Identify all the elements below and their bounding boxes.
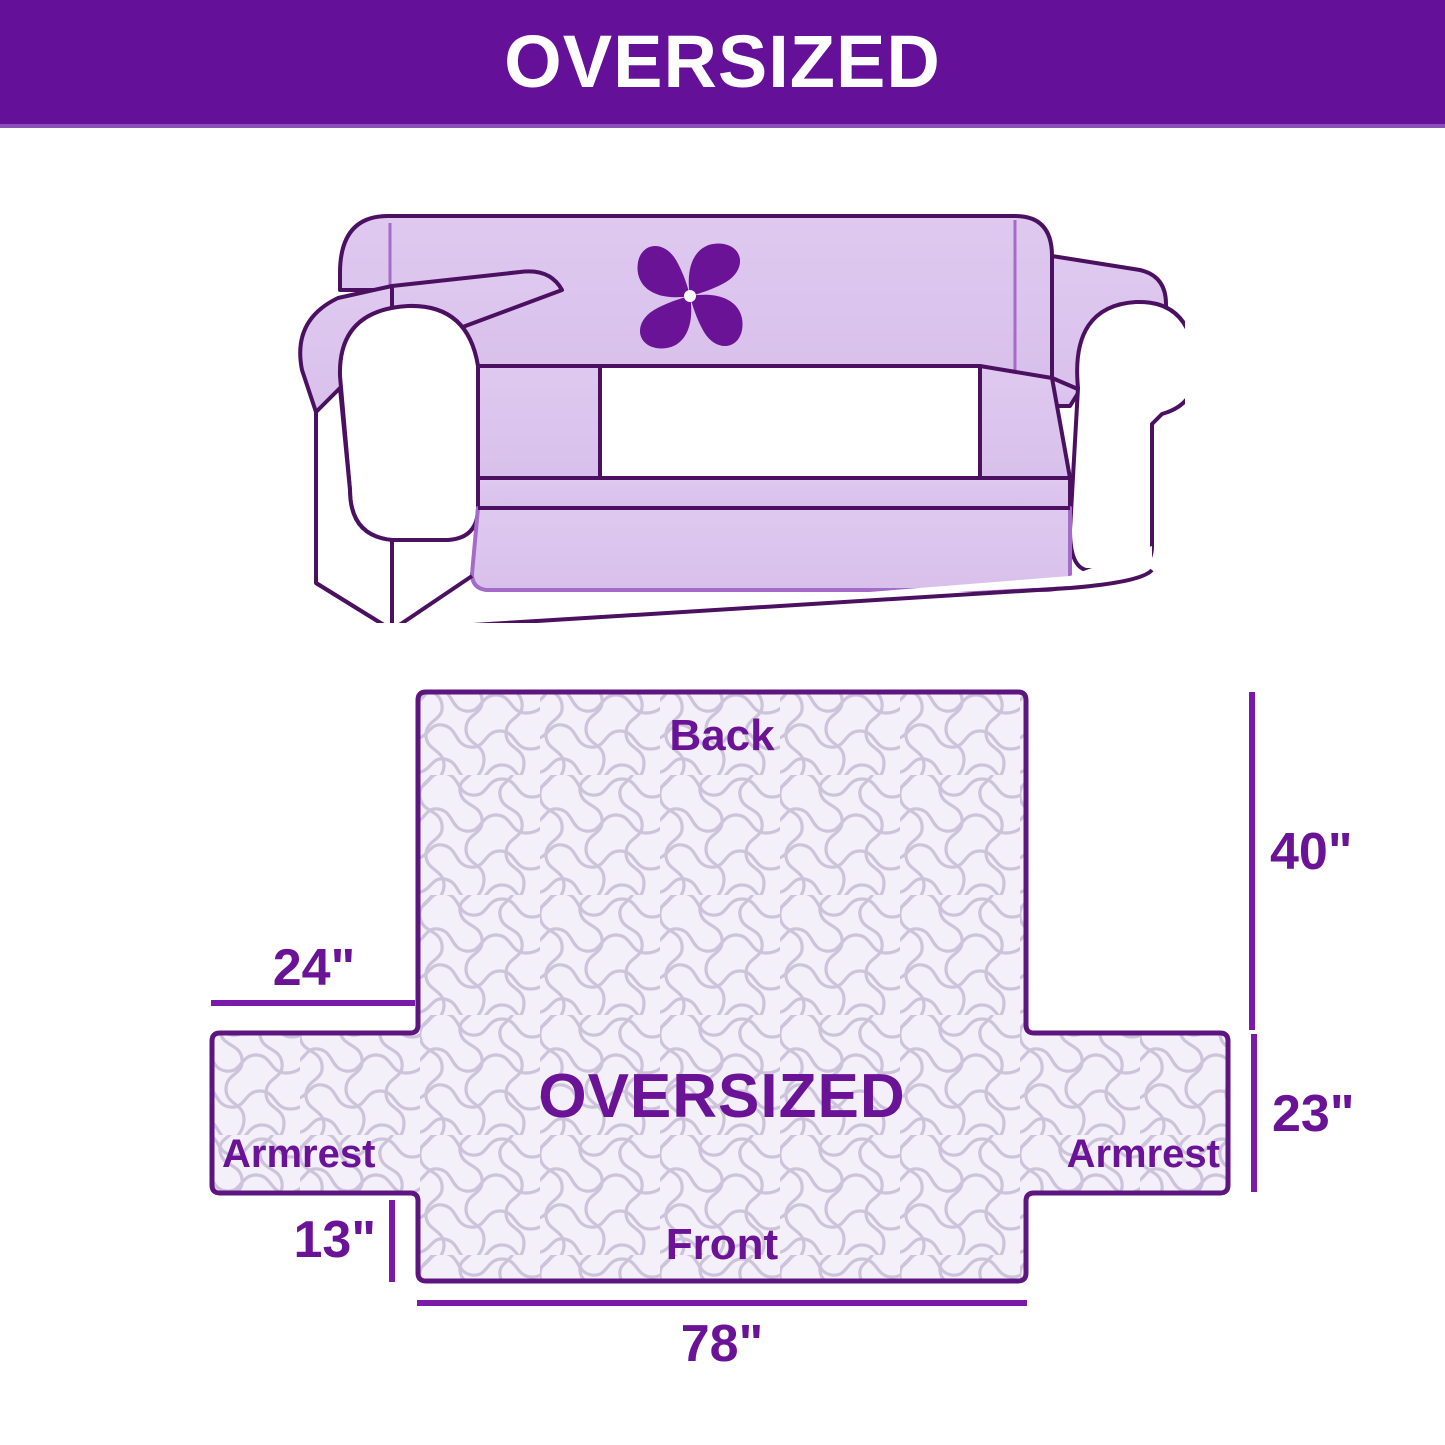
dimension-value-40: 40": [1270, 823, 1353, 881]
dimension-value-24: 24": [273, 939, 356, 997]
cover-pattern-cross-shape: [212, 692, 1228, 1281]
sofa-seat: [392, 478, 1070, 623]
dimension-front-skirt-depth: 13": [294, 1203, 393, 1279]
dimension-back-height: 40": [1252, 695, 1353, 1027]
panel-label-armrest-right: Armrest: [1067, 1132, 1220, 1176]
page-title: OVERSIZED: [504, 25, 941, 99]
dimension-diagram: Back Front Armrest Armrest OVERSIZED 40"…: [180, 655, 1360, 1385]
panel-label-front: Front: [666, 1220, 779, 1269]
dimension-value-13: 13": [294, 1211, 377, 1269]
panel-label-back: Back: [669, 711, 775, 760]
dimension-armrest-drop: 24": [214, 939, 412, 1003]
dimension-value-78: 78": [681, 1315, 764, 1373]
sofa-illustration: [280, 178, 1185, 623]
dimension-total-width: 78": [420, 1303, 1024, 1373]
center-label-oversized: OVERSIZED: [538, 1062, 905, 1131]
panel-label-armrest-left: Armrest: [222, 1132, 375, 1176]
header-banner: OVERSIZED: [0, 0, 1445, 124]
dimension-value-23: 23": [1272, 1085, 1355, 1143]
dimension-armrest-height: 23": [1254, 1037, 1355, 1189]
